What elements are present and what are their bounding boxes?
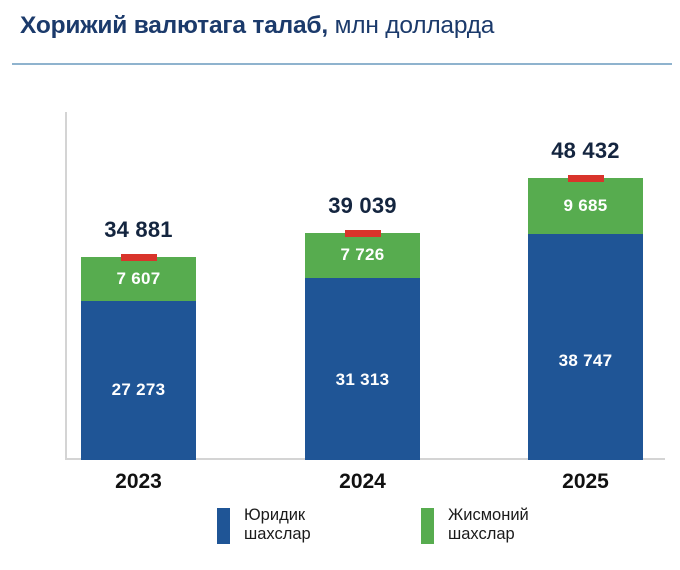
bar-segment-jismoniy[interactable]: 7 726 [305, 233, 420, 278]
title-bold-part: Хорижий валютага талаб, [20, 12, 328, 39]
x-axis-tick-label: 2023 [81, 470, 196, 494]
chart-legend: Юридик шахслар Жисмоний шахслар [0, 500, 680, 564]
bar-segment-label-jismoniy: 9 685 [563, 196, 607, 216]
legend-item-jismoniy[interactable]: Жисмоний шахслар [421, 506, 529, 544]
red-cap-marker-icon [345, 230, 381, 237]
legend-label-yuridik: Юридик шахслар [244, 506, 311, 544]
bar-segment-yuridik[interactable]: 31 313 [305, 278, 420, 460]
bar-segment-label-yuridik: 38 747 [559, 351, 613, 370]
y-axis-line [65, 112, 67, 460]
bar-segment-yuridik[interactable]: 38 747 [528, 234, 643, 460]
bar-segment-jismoniy[interactable]: 7 607 [81, 257, 196, 301]
red-cap-marker-icon [568, 175, 604, 182]
bar-total-label: 39 039 [305, 193, 420, 219]
legend-swatch-green [421, 508, 434, 544]
title-divider [12, 63, 672, 65]
bar-segment-label-yuridik: 27 273 [112, 380, 166, 399]
legend-label-jismoniy: Жисмоний шахслар [448, 506, 529, 544]
bar-segment-yuridik[interactable]: 27 273 [81, 301, 196, 460]
x-axis-tick-label: 2025 [528, 470, 643, 494]
bar-stack[interactable]: 7 60727 273 [81, 257, 196, 460]
chart-header: Хорижий валютага талаб, млн долларда [0, 0, 680, 66]
bar-segment-label-wrap: 27 273 [81, 380, 196, 400]
bar-total-label: 48 432 [528, 138, 643, 164]
bar-stack[interactable]: 7 72631 313 [305, 233, 420, 460]
red-cap-marker-icon [121, 254, 157, 261]
bar-segment-jismoniy[interactable]: 9 685 [528, 178, 643, 234]
page-title: Хорижий валютага талаб, млн долларда [20, 12, 494, 40]
title-regular-part: млн долларда [328, 12, 494, 39]
bar-total-label: 34 881 [81, 217, 196, 243]
bar-stack[interactable]: 9 68538 747 [528, 178, 643, 460]
legend-swatch-blue [217, 508, 230, 544]
bar-segment-label-jismoniy: 7 726 [340, 245, 384, 265]
chart-plot-area: 34 8817 60727 273202339 0397 72631 31320… [0, 66, 680, 570]
bar-segment-label-wrap: 31 313 [305, 370, 420, 390]
bar-segment-label-yuridik: 31 313 [336, 370, 390, 389]
x-axis-tick-label: 2024 [305, 470, 420, 494]
legend-item-yuridik[interactable]: Юридик шахслар [217, 506, 311, 544]
bar-segment-label-jismoniy: 7 607 [116, 269, 160, 289]
bar-segment-label-wrap: 38 747 [528, 351, 643, 371]
